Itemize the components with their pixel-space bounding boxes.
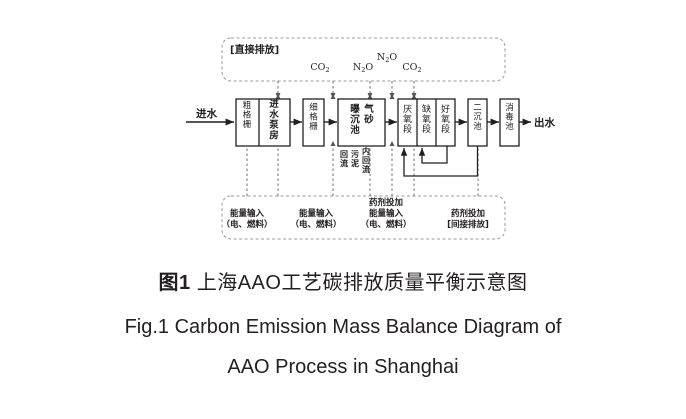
input-label-energy-1: 能量输入（电、燃料） [221,208,272,230]
gas-label-n2o-1: N2O [353,62,373,74]
unit-label-secondary-clarifier: 二沉池 [473,103,482,132]
unit-label-fine-screen: 细格栅 [309,102,318,132]
input-label-chemical-dosing-top: 药剂投加 [369,197,403,208]
unit-label-aerated-grit-chamber-col1: 曝沉池 [350,103,360,136]
input-label-energy-2: 能量输入（电、燃料） [290,208,341,230]
effluent-label: 出水 [534,116,555,129]
unit-label-aerated-grit-chamber-col2: 气砂 [363,103,374,126]
gas-label-n2o-2: N2O [377,52,397,64]
recycle-label-sludge-return-col1: 回流 [340,150,348,168]
unit-label-aerobic-zone: 好氧段 [441,103,450,135]
recycle-label-internal-recycle: 内回流 [362,146,370,174]
figure-caption-english-line2: AAO Process in Shanghai [0,352,686,382]
unit-label-disinfection-tank: 消毒池 [505,102,514,132]
figure-caption-chinese: 图1 上海AAO工艺碳排放质量平衡示意图 [0,268,686,298]
process-flow-diagram: 粗格栅 进水泵房 细格栅 曝沉池 气砂 厌氧段 缺氧段 好氧段 二沉池 消毒池 … [0,0,686,260]
unit-label-inlet-pump-room: 进水泵房 [268,98,279,142]
figure-caption-english-line1: Fig.1 Carbon Emission Mass Balance Diagr… [0,312,686,342]
figure-caption-chinese-text: 上海AAO工艺碳排放质量平衡示意图 [191,272,528,294]
input-label-chemical-dosing: 药剂投加[间接排放] [447,208,489,230]
unit-label-anoxic-zone: 缺氧段 [422,103,431,135]
direct-emission-label: [直接排放] [230,43,279,56]
unit-label-coarse-screen: 粗格栅 [243,100,252,130]
gas-label-co2-1: CO2 [310,62,329,74]
gas-label-co2-2: CO2 [402,62,421,74]
input-label-energy-3: 能量输入（电、燃料） [360,208,411,230]
recycle-label-sludge-return-col2: 污泥 [351,149,359,168]
unit-box-aerated-grit-chamber [338,99,385,146]
figure-number: 图1 [159,272,191,294]
influent-label: 进水 [196,107,217,120]
unit-label-anaerobic-zone: 厌氧段 [403,104,412,135]
